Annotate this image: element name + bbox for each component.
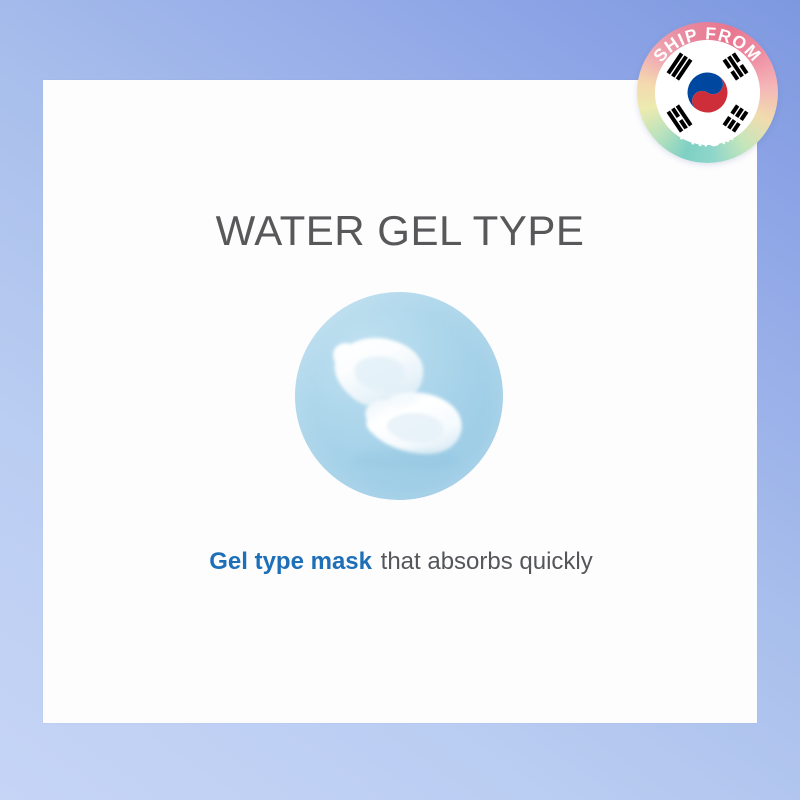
caption-highlight: Gel type mask xyxy=(207,548,374,575)
page-title: WATER GEL TYPE xyxy=(0,207,800,255)
caption-rest: that absorbs quickly xyxy=(374,548,593,575)
caption: Gel type mask that absorbs quickly xyxy=(0,548,800,576)
south-korea-flag-icon xyxy=(655,40,760,145)
badge-flag-disc xyxy=(655,40,760,145)
gel-swirl-illustration xyxy=(295,292,503,500)
promo-graphic: WATER GEL TYPE xyxy=(0,0,800,800)
ship-from-badge: SHIP FROM PRISM xyxy=(637,22,778,163)
product-texture-image xyxy=(295,292,503,500)
texture-circle-background xyxy=(295,292,503,500)
